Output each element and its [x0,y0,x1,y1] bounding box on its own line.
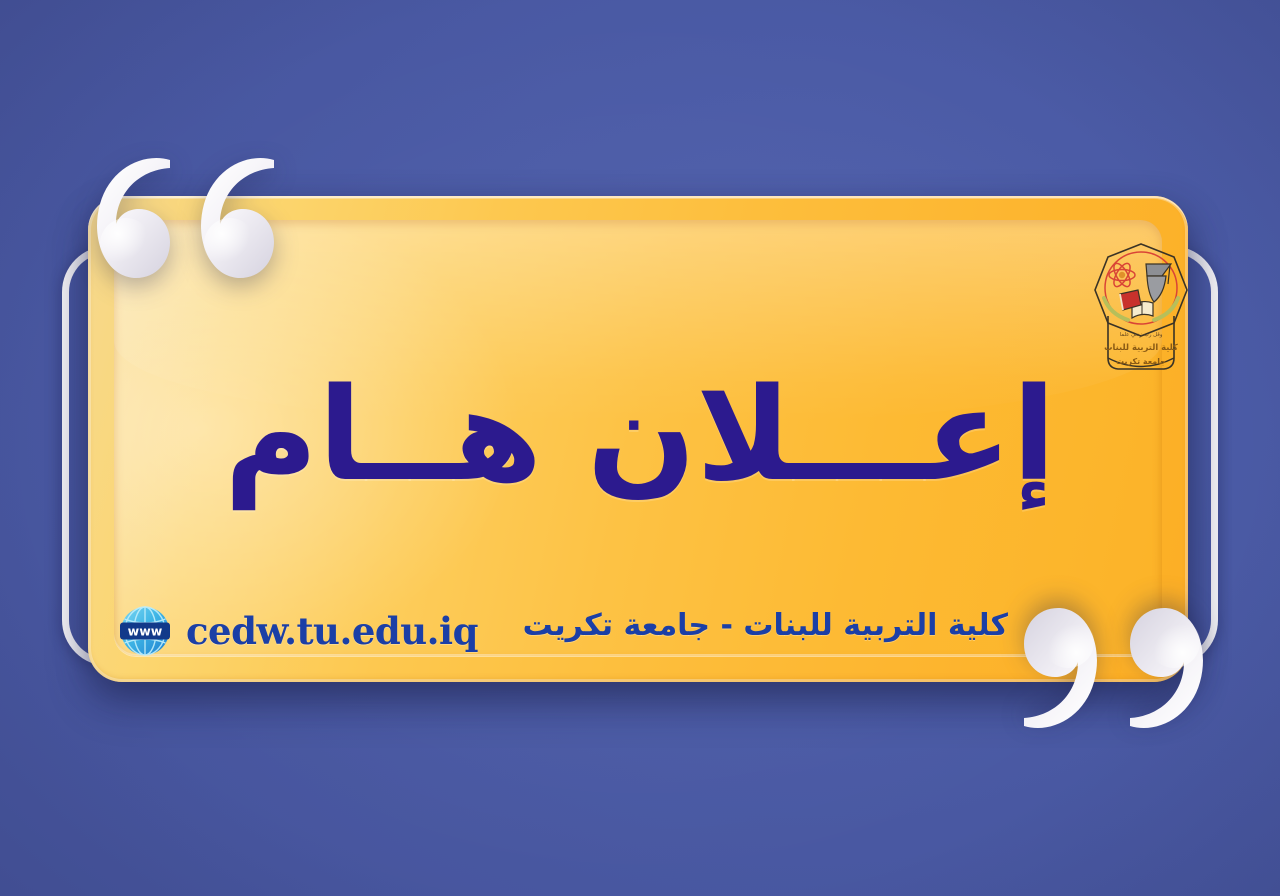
quotation-mark-close-group [1012,592,1214,740]
page-title: إعـــلان هــام [0,372,1280,500]
globe-www-icon: www [118,604,172,658]
quotation-mark-open-group [86,146,286,294]
website-block[interactable]: www cedw.tu.edu.iq [118,604,478,658]
institution-name: كلية التربية للبنات - جامعة تكريت [523,608,1008,643]
website-url[interactable]: cedw.tu.edu.iq [186,609,478,653]
quotation-mark-open-2 [86,146,182,294]
quotation-mark-close-2 [1012,592,1108,740]
logo-motto: وقل رب زدني علما [1120,332,1163,338]
university-logo: وقل رب زدني علما كلية التربية للبنات جام… [1078,238,1204,378]
quotation-mark-open-1 [190,146,286,294]
logo-line1: كلية التربية للبنات [1104,342,1178,353]
quotation-mark-close-1 [1118,592,1214,740]
logo-line2: جامعة تكريت [1116,357,1166,366]
globe-icon-label: www [128,623,163,638]
banner-stage: وقل رب زدني علما كلية التربية للبنات جام… [0,0,1280,896]
